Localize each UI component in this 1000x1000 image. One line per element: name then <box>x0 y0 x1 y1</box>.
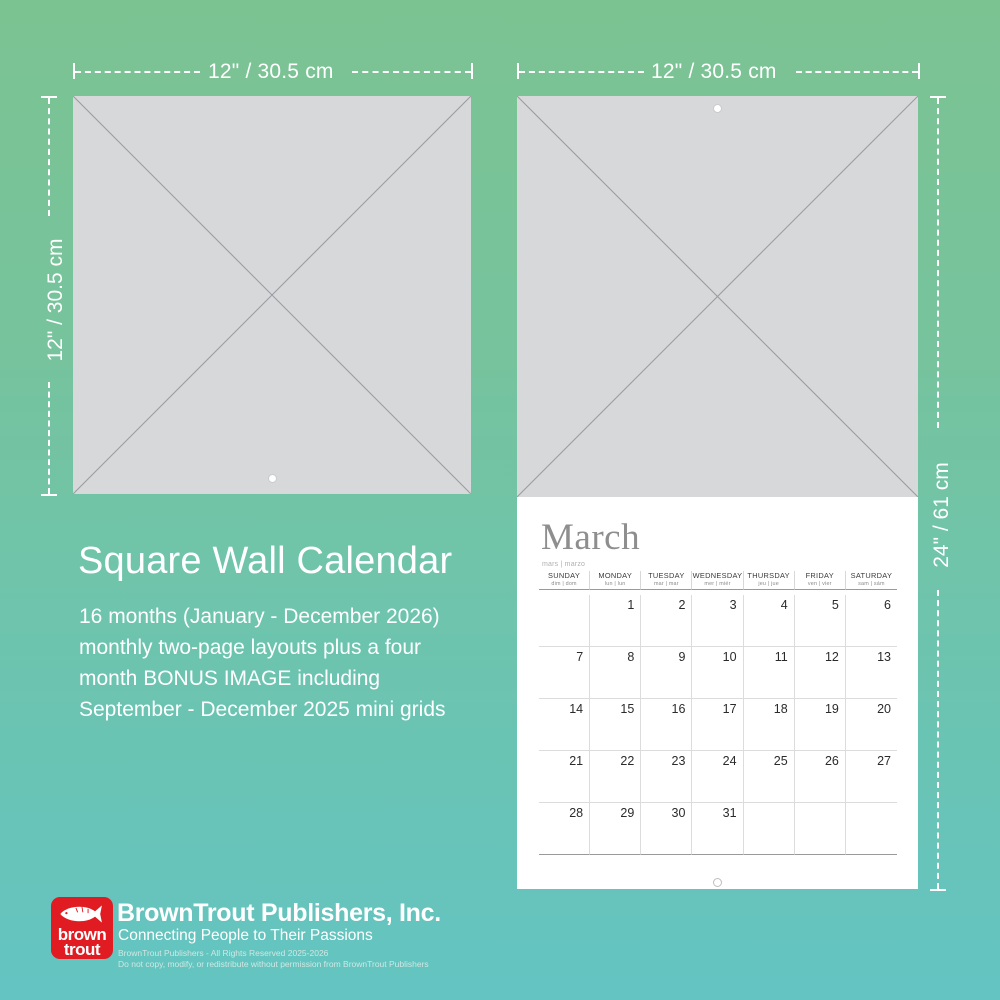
day-header-friday: FRIDAY ven | vier <box>795 571 846 590</box>
calendar-day-cell[interactable]: 10 <box>692 647 743 699</box>
day-header-wednesday: WEDNESDAY mer | miér <box>692 571 743 590</box>
image-placeholder-x-icon <box>73 96 471 494</box>
left-width-dash-b <box>352 71 471 73</box>
calendar-day-cell[interactable]: 11 <box>744 647 795 699</box>
browntrout-logo[interactable]: brown trout <box>51 897 113 959</box>
legal-notice: BrownTrout Publishers - All Rights Reser… <box>118 948 429 970</box>
image-placeholder-x-icon <box>517 96 918 497</box>
right-height-dash-a <box>937 98 939 428</box>
calendar-month-subtitle: mars | marzo <box>542 561 585 568</box>
calendar-day-cell[interactable]: 29 <box>590 803 641 855</box>
day-header-name: THURSDAY <box>744 571 794 580</box>
calendar-day-cell[interactable]: 16 <box>641 699 692 751</box>
description-line: monthly two-page layouts plus a four <box>79 632 519 663</box>
calendar-day-cell[interactable]: 24 <box>692 751 743 803</box>
brand-tagline: Connecting People to Their Passions <box>118 927 373 945</box>
hole-punch-right-panel-top <box>713 104 722 113</box>
logo-word-trout: trout <box>51 942 113 957</box>
description-line: September - December 2025 mini grids <box>79 694 519 725</box>
calendar-day-cell[interactable]: 23 <box>641 751 692 803</box>
calendar-day-cell[interactable] <box>744 803 795 855</box>
calendar-day-cell[interactable]: 20 <box>846 699 897 751</box>
calendar-date-grid: 1 2 3 4 5 6 7 8 9 10 11 12 13 14 15 16 1… <box>539 595 897 803</box>
calendar-day-cell[interactable]: 17 <box>692 699 743 751</box>
calendar-day-cell[interactable]: 30 <box>641 803 692 855</box>
calendar-day-cell[interactable]: 27 <box>846 751 897 803</box>
day-header-name: MONDAY <box>590 571 640 580</box>
calendar-day-cell[interactable]: 26 <box>795 751 846 803</box>
left-width-dash-a <box>75 71 200 73</box>
calendar-day-cell[interactable]: 28 <box>539 803 590 855</box>
day-header-name: SATURDAY <box>846 571 897 580</box>
calendar-grid-page: March mars | marzo SUNDAY dim | dom MOND… <box>517 497 918 889</box>
day-header-alt: lun | lun <box>590 581 640 587</box>
calendar-day-cell[interactable]: 9 <box>641 647 692 699</box>
day-header-monday: MONDAY lun | lun <box>590 571 641 590</box>
calendar-day-cell[interactable]: 19 <box>795 699 846 751</box>
day-header-tuesday: TUESDAY mar | mar <box>641 571 692 590</box>
calendar-day-cell[interactable]: 1 <box>590 595 641 647</box>
day-header-name: TUESDAY <box>641 571 691 580</box>
calendar-image-page-right <box>517 96 918 497</box>
calendar-day-cell[interactable]: 8 <box>590 647 641 699</box>
day-header-name: WEDNESDAY <box>692 571 742 580</box>
legal-line: BrownTrout Publishers - All Rights Reser… <box>118 948 429 959</box>
day-header-alt: jeu | jue <box>744 581 794 587</box>
day-header-thursday: THURSDAY jeu | jue <box>744 571 795 590</box>
left-panel-width-label: 12" / 30.5 cm <box>208 60 334 84</box>
left-panel-height-label: 12" / 30.5 cm <box>44 220 68 380</box>
day-header-saturday: SATURDAY sam | sám <box>846 571 897 590</box>
calendar-date-grid-last-row: 28 29 30 31 <box>539 803 897 855</box>
calendar-day-header-row: SUNDAY dim | dom MONDAY lun | lun TUESDA… <box>539 571 897 590</box>
day-header-alt: mar | mar <box>641 581 691 587</box>
day-header-sunday: SUNDAY dim | dom <box>539 571 590 590</box>
right-width-cap-end <box>918 63 920 79</box>
right-panel-height-label: 24" / 61 cm <box>930 435 954 595</box>
left-width-cap-end <box>471 63 473 79</box>
right-width-dash-a <box>519 71 644 73</box>
calendar-month-title: March <box>541 519 640 556</box>
calendar-day-cell[interactable]: 22 <box>590 751 641 803</box>
calendar-day-cell[interactable]: 6 <box>846 595 897 647</box>
legal-line: Do not copy, modify, or redistribute wit… <box>118 959 429 970</box>
calendar-day-cell[interactable] <box>846 803 897 855</box>
calendar-day-cell[interactable]: 4 <box>744 595 795 647</box>
calendar-day-cell[interactable]: 3 <box>692 595 743 647</box>
page-title: Square Wall Calendar <box>78 540 452 583</box>
left-height-dash-b <box>48 382 50 494</box>
trout-fish-icon <box>54 901 110 927</box>
calendar-day-cell[interactable]: 21 <box>539 751 590 803</box>
right-panel-width-label: 12" / 30.5 cm <box>651 60 777 84</box>
brand-name: BrownTrout Publishers, Inc. <box>117 899 441 928</box>
product-description: 16 months (January - December 2026) mont… <box>79 601 519 725</box>
right-width-dash-b <box>796 71 918 73</box>
calendar-day-cell[interactable]: 14 <box>539 699 590 751</box>
calendar-day-cell[interactable] <box>795 803 846 855</box>
calendar-day-cell[interactable]: 5 <box>795 595 846 647</box>
day-header-alt: sam | sám <box>846 581 897 587</box>
left-height-dash-a <box>48 98 50 216</box>
calendar-image-page-left <box>73 96 471 494</box>
left-height-cap-bottom <box>41 494 57 496</box>
calendar-day-cell[interactable]: 13 <box>846 647 897 699</box>
day-header-alt: dim | dom <box>539 581 589 587</box>
calendar-day-cell[interactable]: 2 <box>641 595 692 647</box>
day-header-name: SUNDAY <box>539 571 589 580</box>
product-marketing-image: 12" / 30.5 cm 12" / 30.5 cm 12" / 30.5 c… <box>0 0 1000 1000</box>
calendar-day-cell[interactable]: 25 <box>744 751 795 803</box>
day-header-name: FRIDAY <box>795 571 845 580</box>
right-height-cap-bottom <box>930 889 946 891</box>
calendar-day-cell[interactable]: 15 <box>590 699 641 751</box>
right-height-dash-b <box>937 590 939 889</box>
day-header-alt: mer | miér <box>692 581 742 587</box>
hole-punch-right-panel-bottom <box>713 878 722 887</box>
calendar-day-cell[interactable]: 31 <box>692 803 743 855</box>
hole-punch-left-panel <box>268 474 277 483</box>
calendar-day-cell[interactable]: 18 <box>744 699 795 751</box>
day-header-alt: ven | vier <box>795 581 845 587</box>
calendar-day-cell[interactable] <box>539 595 590 647</box>
description-line: 16 months (January - December 2026) <box>79 601 519 632</box>
calendar-day-cell[interactable]: 12 <box>795 647 846 699</box>
description-line: month BONUS IMAGE including <box>79 663 519 694</box>
calendar-day-cell[interactable]: 7 <box>539 647 590 699</box>
